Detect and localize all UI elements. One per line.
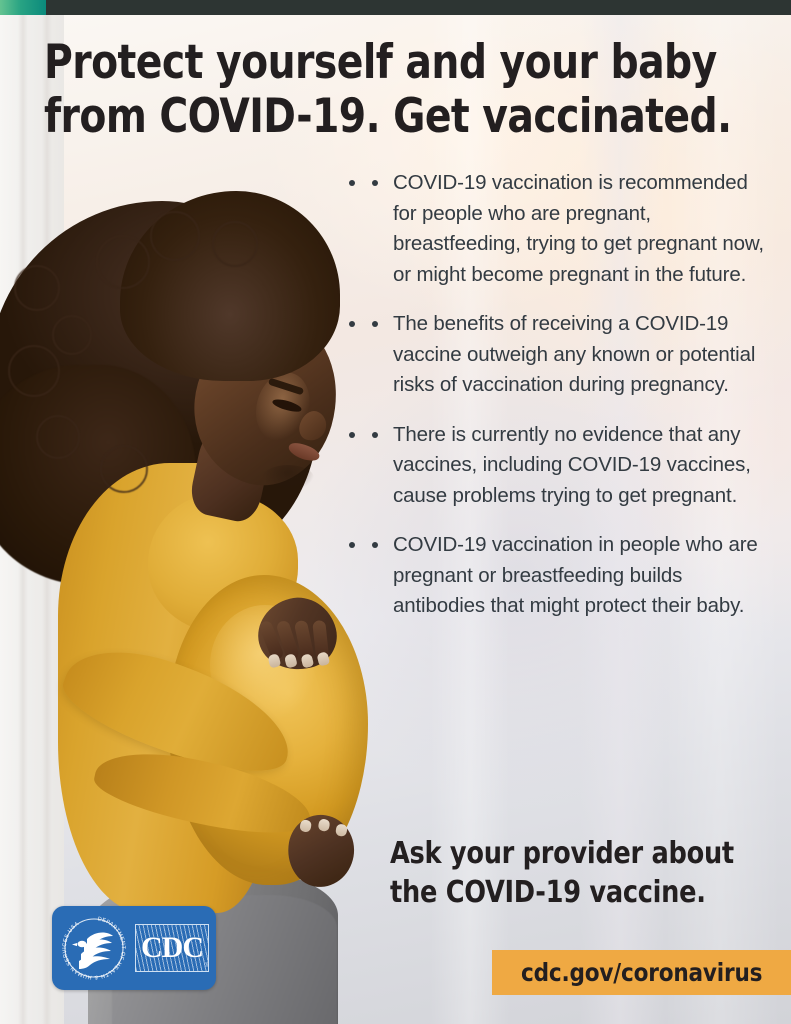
list-item: COVID-19 vaccination is recommended for … [368,168,776,290]
fingernail [318,818,331,832]
hair-curl [100,445,148,493]
website-url-text: cdc.gov/coronavirus [521,958,762,987]
website-url-banner[interactable]: cdc.gov/coronavirus [492,950,791,995]
list-item-text: The benefits of receiving a COVID-19 vac… [393,312,755,396]
page-title: Protect yourself and your baby from COVI… [44,36,695,144]
cta-line-2: the COVID-19 vaccine. [390,873,770,912]
list-item-text: There is currently no evidence that any … [393,423,751,507]
hair-curl [36,415,80,459]
hair-curl [52,315,92,355]
hair-curl [150,211,200,261]
hair-curl [14,265,60,311]
list-item-text: COVID-19 vaccination is recommended for … [393,171,764,286]
fingernail [335,823,348,837]
bullet-dot-icon [372,542,378,548]
cdc-logo: DEPARTMENT OF HEALTH & HUMAN SERVICES US… [52,906,216,990]
pregnant-person-photo [0,15,392,1024]
cdc-wordmark: CDC ® [135,924,209,972]
list-item: The benefits of receiving a COVID-19 vac… [368,309,776,401]
cdc-wordmark-text: CDC [136,925,208,971]
hhs-seal-icon: DEPARTMENT OF HEALTH & HUMAN SERVICES US… [57,911,131,985]
headline-line-2: from COVID-19. Get vaccinated. [44,90,695,144]
cdc-covid-pregnancy-poster: Protect yourself and your baby from COVI… [0,0,791,1024]
call-to-action: Ask your provider about the COVID-19 vac… [390,834,770,912]
top-accent-gradient [0,0,46,15]
chin-shadow [262,465,314,491]
list-item-text: COVID-19 vaccination in people who are p… [393,533,758,617]
list-item: COVID-19 vaccination in people who are p… [368,530,776,622]
top-accent-bar [0,0,791,15]
hair-curl [212,221,258,267]
bullet-dot-icon [372,180,378,186]
fingernail [299,819,312,833]
hair-curl [96,235,150,289]
bullet-dot-icon [372,432,378,438]
list-item: There is currently no evidence that any … [368,420,776,512]
cta-line-1: Ask your provider about [390,834,770,873]
bullet-dot-icon [372,321,378,327]
key-points-list: COVID-19 vaccination is recommended for … [368,168,776,641]
hair-curl [8,345,60,397]
trademark-symbol: ® [205,963,209,969]
headline-line-1: Protect yourself and your baby [44,36,695,90]
